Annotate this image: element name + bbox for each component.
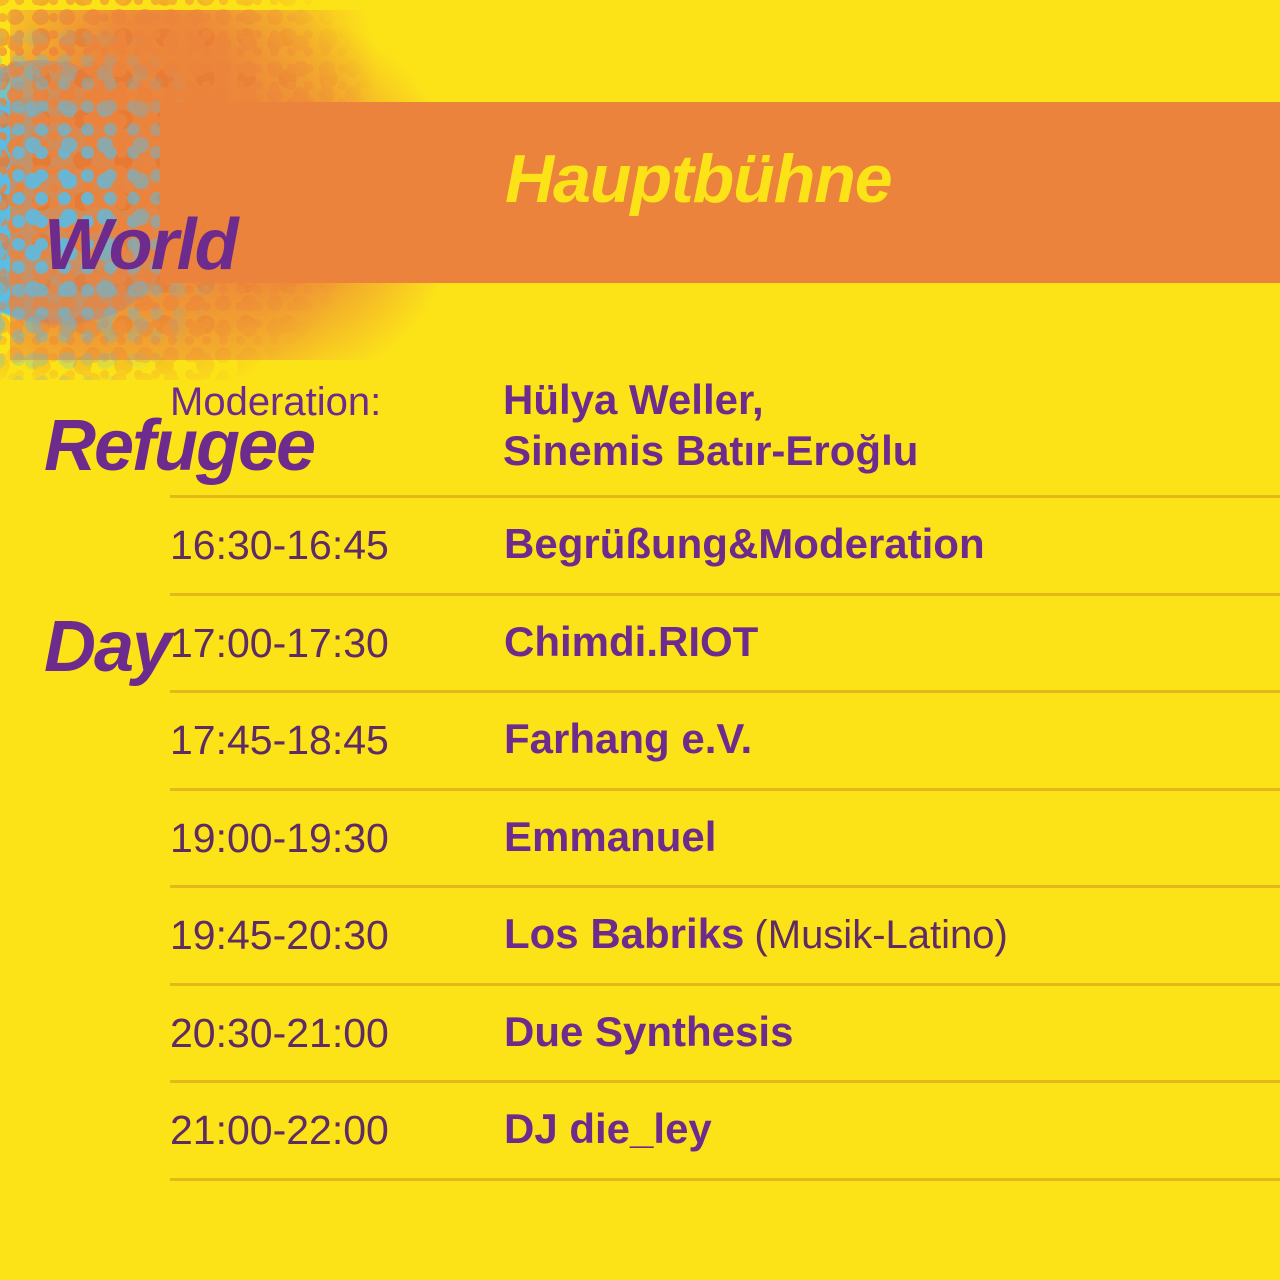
schedule-row: 16:30-16:45 Begrüßung&Moderation (170, 495, 1280, 593)
logo-line-1: World (44, 212, 314, 279)
schedule-row-title: Los Babriks(Musik-Latino) (504, 910, 1008, 958)
schedule-row-time: 20:30-21:00 (170, 1010, 389, 1057)
schedule-row: 17:00-17:30 Chimdi.RIOT (170, 593, 1280, 691)
moderation-names: Hülya Weller, Sinemis Batır-Eroğlu (503, 374, 918, 476)
schedule-row: 19:00-19:30 Emmanuel (170, 788, 1280, 886)
moderation-row: Moderation: Hülya Weller, Sinemis Batır-… (0, 362, 1280, 495)
schedule-row: 21:00-22:00 DJ die_ley (170, 1080, 1280, 1178)
schedule-row-time: 17:00-17:30 (170, 620, 389, 667)
schedule-row-title: Chimdi.RIOT (504, 618, 758, 666)
schedule-row-time: 19:45-20:30 (170, 912, 389, 959)
schedule-row: 17:45-18:45 Farhang e.V. (170, 690, 1280, 788)
moderator-name-2: Sinemis Batır-Eroğlu (503, 425, 918, 476)
moderation-label: Moderation: (170, 380, 381, 425)
schedule-row-title: Begrüßung&Moderation (504, 520, 985, 568)
schedule-bottom-divider (170, 1178, 1280, 1181)
schedule-row-time: 16:30-16:45 (170, 522, 389, 569)
schedule-row-title: Emmanuel (504, 813, 716, 861)
schedule-row-note: (Musik-Latino) (754, 913, 1007, 957)
schedule-row-title: Due Synthesis (504, 1008, 793, 1056)
poster-canvas: Hauptbühne World Refugee Day Moderation:… (0, 0, 1280, 1280)
schedule-row-time: 17:45-18:45 (170, 717, 389, 764)
stage-title: Hauptbühne (505, 145, 892, 213)
schedule-row: 20:30-21:00 Due Synthesis (170, 983, 1280, 1081)
schedule-row-title: Farhang e.V. (504, 715, 752, 763)
moderator-name-1: Hülya Weller, (503, 374, 918, 425)
schedule-list: Moderation: Hülya Weller, Sinemis Batır-… (0, 362, 1280, 1181)
schedule-row-time: 19:00-19:30 (170, 815, 389, 862)
schedule-row: 19:45-20:30 Los Babriks(Musik-Latino) (170, 885, 1280, 983)
schedule-row-time: 21:00-22:00 (170, 1107, 389, 1154)
schedule-row-title: DJ die_ley (504, 1105, 712, 1153)
